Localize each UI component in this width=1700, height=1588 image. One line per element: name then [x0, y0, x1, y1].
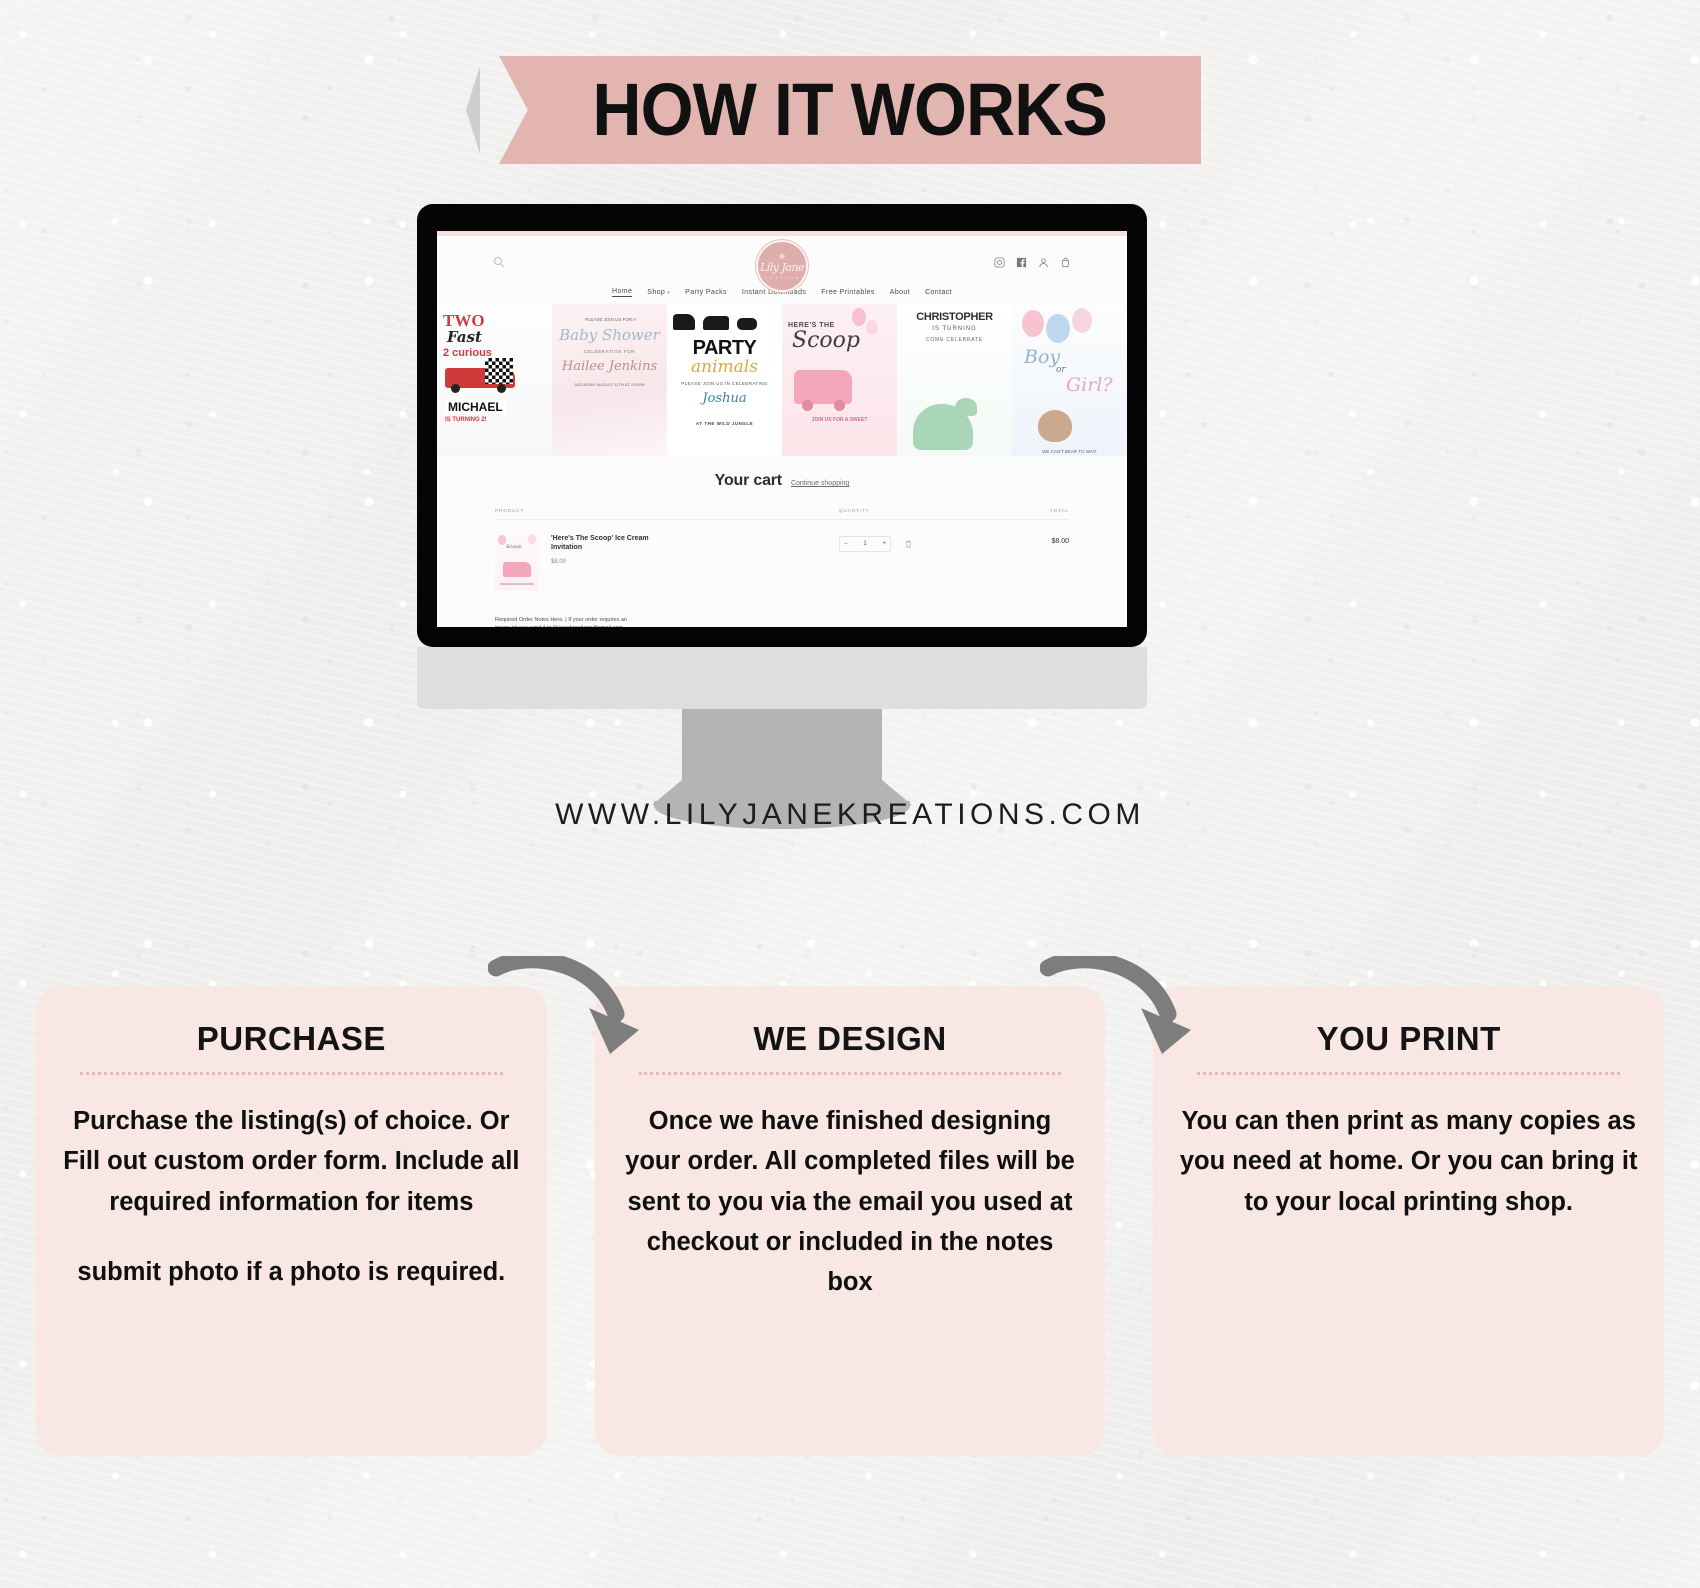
quantity-decrease-button[interactable]: − [844, 541, 848, 547]
cart-icon[interactable] [1060, 257, 1071, 268]
thumb-script-text: Scoop [506, 544, 521, 550]
truck-wheel-right [834, 400, 845, 411]
truck-wheel-left [802, 400, 813, 411]
banner-title: HOW IT WORKS [593, 73, 1108, 147]
hero-card-dinosaur[interactable]: CHRISTOPHER IS TURNING COME CELEBRATE [897, 304, 1012, 456]
continue-shopping-link[interactable]: Continue shopping [791, 480, 849, 487]
hero-3-line4: Joshua [667, 392, 782, 405]
car-wheel-right [497, 384, 506, 393]
cart-title-row: Your cart Continue shopping [495, 472, 1069, 490]
monitor-screen: ❀ Lily Jane K R E A T I O N S [437, 231, 1127, 627]
cart-item-price: $8.00 [551, 559, 839, 565]
nav-item-home[interactable]: Home [612, 288, 632, 297]
how-it-works-banner: HOW IT WORKS [0, 56, 1700, 164]
nav-item-party-packs[interactable]: Party Packs [685, 289, 727, 296]
arrow-design-to-print-icon [1040, 956, 1210, 1066]
hero-2-line1: PLEASE JOIN US FOR A [560, 318, 661, 323]
hero-3-line2: animals [667, 359, 782, 376]
hero-1-line1: TWO [443, 312, 485, 329]
step-card-we-design: WE DESIGN Once we have finished designin… [595, 986, 1106, 1456]
hero-6-line2: or [1056, 366, 1066, 375]
step-divider-purchase [80, 1072, 503, 1075]
hero-4-line2: Scoop [792, 330, 860, 352]
website-url: WWW.LILYJANEKREATIONS.COM [0, 798, 1700, 832]
hero-3-line5: AT THE WILD JUNGLE [667, 422, 782, 427]
step-body-purchase-1: Purchase the listing(s) of choice. Or Fi… [62, 1101, 521, 1222]
column-header-total: TOTAL [989, 508, 1069, 513]
checkered-flag-graphic [485, 358, 513, 384]
hero-2-line2: Baby Shower [552, 328, 667, 343]
hero-card-heres-the-scoop[interactable]: HERE'S THE Scoop JOIN US FOR A SWEET [782, 304, 897, 456]
desktop-monitor: ❀ Lily Jane K R E A T I O N S [417, 204, 1147, 829]
hero-6-line4: WE CAN'T BEAR TO WAIT [1016, 450, 1123, 455]
column-header-product: PRODUCT [495, 508, 839, 513]
logo-script-text: Lily Jane [760, 262, 804, 273]
balloon-pink-icon [1022, 310, 1044, 337]
step-title-you-print: YOU PRINT [1179, 1020, 1638, 1058]
instagram-icon[interactable] [994, 257, 1005, 268]
dinosaur-head [955, 398, 977, 416]
hero-card-baby-shower[interactable]: PLEASE JOIN US FOR A Baby Shower CELEBRA… [552, 304, 667, 456]
balloon-blue-icon [1046, 314, 1070, 343]
banner-ribbon: HOW IT WORKS [499, 56, 1201, 164]
quantity-control-group: − 1 + [839, 532, 989, 552]
cart-item-name[interactable]: 'Here's The Scoop' Ice Cream Invitation [551, 534, 671, 553]
hero-5-line3: COME CELEBRATE [897, 338, 1012, 343]
order-notes-input[interactable] [648, 616, 1069, 627]
cart-item-thumbnail[interactable]: Scoop [495, 532, 539, 590]
step-title-we-design: WE DESIGN [621, 1020, 1080, 1058]
chevron-down-icon: ▾ [667, 290, 670, 296]
hero-1-line2: Fast [447, 330, 482, 345]
step-body-you-print-1: You can then print as many copies as you… [1179, 1101, 1638, 1222]
nav-item-contact[interactable]: Contact [925, 289, 952, 296]
car-wheel-left [451, 384, 460, 393]
facebook-icon[interactable] [1016, 257, 1027, 268]
giraffe-silhouette [703, 316, 729, 330]
arrow-purchase-to-design-icon [488, 956, 658, 1066]
thumb-balloon-2 [528, 534, 536, 544]
hero-2-line3: CELEBRATION FOR [552, 350, 667, 355]
site-header: ❀ Lily Jane K R E A T I O N S [437, 236, 1127, 288]
balloon-blush-icon [1072, 308, 1092, 333]
lion-silhouette [737, 318, 757, 330]
elephant-silhouette [673, 314, 695, 330]
hero-5-line2: IS TURNING [897, 326, 1012, 332]
order-notes-label: Required Order Notes Here. | If your ord… [495, 616, 630, 627]
cart-section: Your cart Continue shopping PRODUCT QUAN… [437, 456, 1127, 627]
site-logo[interactable]: ❀ Lily Jane K R E A T I O N S [756, 240, 808, 292]
cart-title: Your cart [715, 472, 782, 490]
cart-item-line-total: $8.00 [989, 532, 1069, 545]
monitor-bezel: ❀ Lily Jane K R E A T I O N S [417, 204, 1147, 647]
hero-3-line1: PARTY [667, 338, 782, 358]
nav-item-about[interactable]: About [890, 289, 910, 296]
quantity-stepper[interactable]: − 1 + [839, 536, 891, 552]
step-card-purchase: PURCHASE Purchase the listing(s) of choi… [36, 986, 547, 1456]
hero-2-line5: SATURDAY AUGUST 12TH AT 2:00PM [558, 382, 661, 389]
hero-card-boy-or-girl[interactable]: Boy or Girl? WE CAN'T BEAR TO WAIT [1012, 304, 1127, 456]
cart-line-item: Scoop 'Here's The Scoop' Ice Cream Invit… [495, 520, 1069, 590]
ice-cream-truck-graphic [794, 370, 852, 404]
cart-item-info: 'Here's The Scoop' Ice Cream Invitation … [551, 532, 839, 565]
account-icon[interactable] [1038, 257, 1049, 268]
hero-3-line3: PLEASE JOIN US IN CELEBRATING [671, 382, 778, 387]
hero-6-line3: Girl? [1066, 376, 1113, 395]
steps-row: PURCHASE Purchase the listing(s) of choi… [36, 986, 1664, 1456]
hero-6-line1: Boy [1024, 348, 1060, 367]
header-icon-group [994, 257, 1071, 268]
step-divider-you-print [1197, 1072, 1620, 1075]
thumb-rule [500, 583, 534, 585]
cart-column-headers: PRODUCT QUANTITY TOTAL [495, 508, 1069, 520]
hero-card-party-animals[interactable]: PARTY animals PLEASE JOIN US IN CELEBRAT… [667, 304, 782, 456]
nav-item-free-printables[interactable]: Free Printables [821, 289, 874, 296]
quantity-value[interactable]: 1 [863, 541, 866, 547]
search-icon[interactable] [493, 256, 505, 268]
logo-subtitle-text: K R E A T I O N S [759, 276, 805, 280]
trash-icon[interactable] [905, 540, 912, 548]
nav-item-shop[interactable]: Shop▾ [647, 289, 670, 296]
hero-1-line5: IS TURNING 2! [445, 417, 487, 423]
monitor-chin [417, 647, 1147, 709]
nav-item-shop-label: Shop [647, 289, 665, 296]
hero-2-line4: Hailee Jenkins [552, 360, 667, 373]
thumb-balloon-1 [498, 535, 506, 545]
step-divider-we-design [639, 1072, 1062, 1075]
balloon-graphic-2 [866, 320, 878, 335]
monitor-stand [682, 709, 882, 801]
sprig-icon: ❀ [779, 253, 786, 261]
hero-5-line1: CHRISTOPHER [897, 312, 1012, 323]
hero-1-line4: MICHAEL [445, 400, 506, 414]
teddy-bear-graphic [1038, 410, 1072, 442]
step-card-you-print: YOU PRINT You can then print as many cop… [1153, 986, 1664, 1456]
hero-image-strip: TWO Fast 2 curious MICHAEL IS TURNING 2!… [437, 304, 1127, 456]
column-header-quantity: QUANTITY [839, 508, 989, 513]
order-notes-block: Required Order Notes Here. | If your ord… [495, 616, 1069, 627]
step-body-purchase-2: submit photo if a photo is required. [62, 1252, 521, 1292]
hero-card-two-fast-two-curious[interactable]: TWO Fast 2 curious MICHAEL IS TURNING 2! [437, 304, 552, 456]
hero-1-line3: 2 curious [443, 348, 492, 359]
step-title-purchase: PURCHASE [62, 1020, 521, 1058]
balloon-graphic-1 [852, 308, 866, 326]
hero-4-line3: JOIN US FOR A SWEET [788, 418, 891, 423]
thumb-truck [503, 562, 531, 577]
quantity-increase-button[interactable]: + [882, 541, 886, 547]
step-body-we-design-1: Once we have finished designing your ord… [621, 1101, 1080, 1302]
website-preview: ❀ Lily Jane K R E A T I O N S [437, 231, 1127, 627]
